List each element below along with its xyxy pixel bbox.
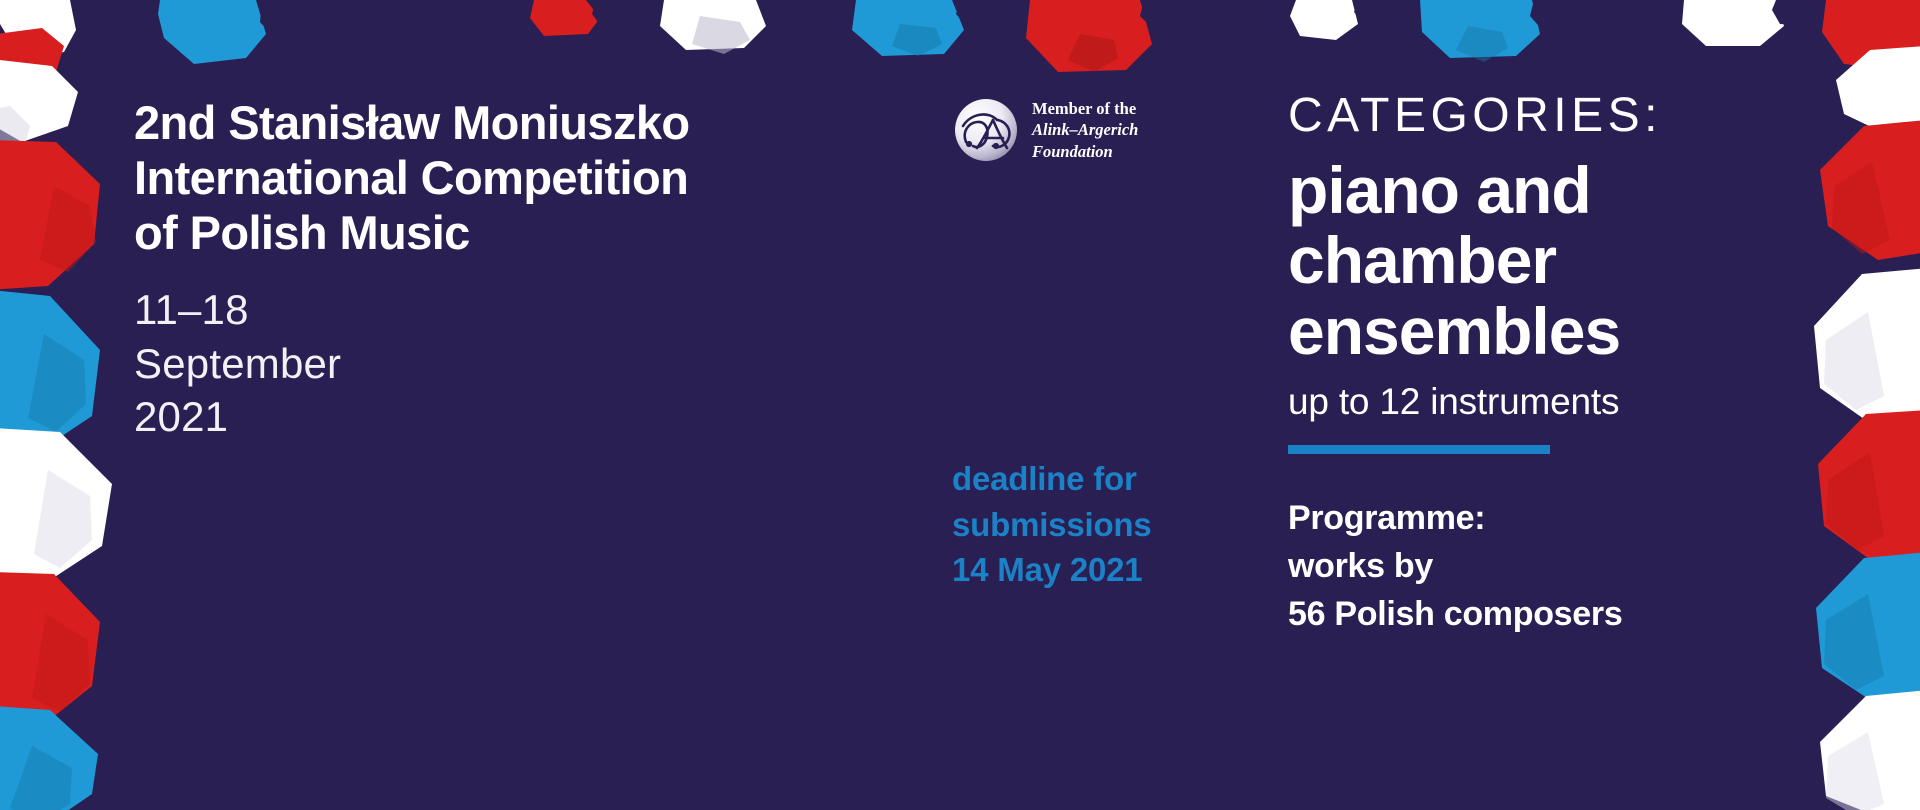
logo-line-1: Member of the bbox=[1032, 98, 1138, 119]
alink-argerich-foundation-logo: Member of the Alink–Argerich Foundation bbox=[952, 96, 1212, 164]
competition-banner: 2nd Stanisław Moniuszko International Co… bbox=[0, 0, 1920, 810]
title-line-1: 2nd Stanisław Moniuszko bbox=[134, 96, 894, 151]
categories-label: CATEGORIES: bbox=[1288, 90, 1828, 143]
foundation-membership-text: Member of the Alink–Argerich Foundation bbox=[1032, 98, 1138, 161]
date-line-2: September bbox=[134, 337, 894, 391]
programme-line-3: 56 Polish composers bbox=[1288, 590, 1828, 638]
categories-subtext: up to 12 instruments bbox=[1288, 381, 1828, 423]
divider-rule bbox=[1288, 445, 1550, 454]
title-line-3: of Polish Music bbox=[134, 206, 894, 261]
logo-line-2: Alink–Argerich bbox=[1032, 119, 1138, 140]
event-dates: 11–18 September 2021 bbox=[134, 283, 894, 444]
title-line-2: International Competition bbox=[134, 151, 894, 206]
deadline-line-1: deadline for bbox=[952, 456, 1252, 502]
deadline-line-2: submissions bbox=[952, 502, 1252, 548]
categories-value: piano and chamber ensembles bbox=[1288, 155, 1828, 367]
categories-block: CATEGORIES: piano and chamber ensembles … bbox=[1288, 90, 1828, 638]
page-title: 2nd Stanisław Moniuszko International Co… bbox=[134, 96, 894, 261]
category-line-2: chamber bbox=[1288, 225, 1828, 296]
category-line-3: ensembles bbox=[1288, 296, 1828, 367]
date-line-3: 2021 bbox=[134, 390, 894, 444]
aa-monogram-icon bbox=[952, 96, 1020, 164]
deadline-date: 14 May 2021 bbox=[952, 547, 1252, 593]
submission-deadline: deadline for submissions 14 May 2021 bbox=[952, 456, 1252, 593]
date-line-1: 11–18 bbox=[134, 283, 894, 337]
programme-line-1: Programme: bbox=[1288, 494, 1828, 542]
programme-block: Programme: works by 56 Polish composers bbox=[1288, 494, 1828, 639]
poster-content: 2nd Stanisław Moniuszko International Co… bbox=[0, 0, 1920, 810]
title-block: 2nd Stanisław Moniuszko International Co… bbox=[134, 96, 894, 444]
category-line-1: piano and bbox=[1288, 155, 1828, 226]
logo-line-3: Foundation bbox=[1032, 141, 1138, 162]
programme-line-2: works by bbox=[1288, 542, 1828, 590]
middle-column: Member of the Alink–Argerich Foundation … bbox=[952, 96, 1252, 164]
